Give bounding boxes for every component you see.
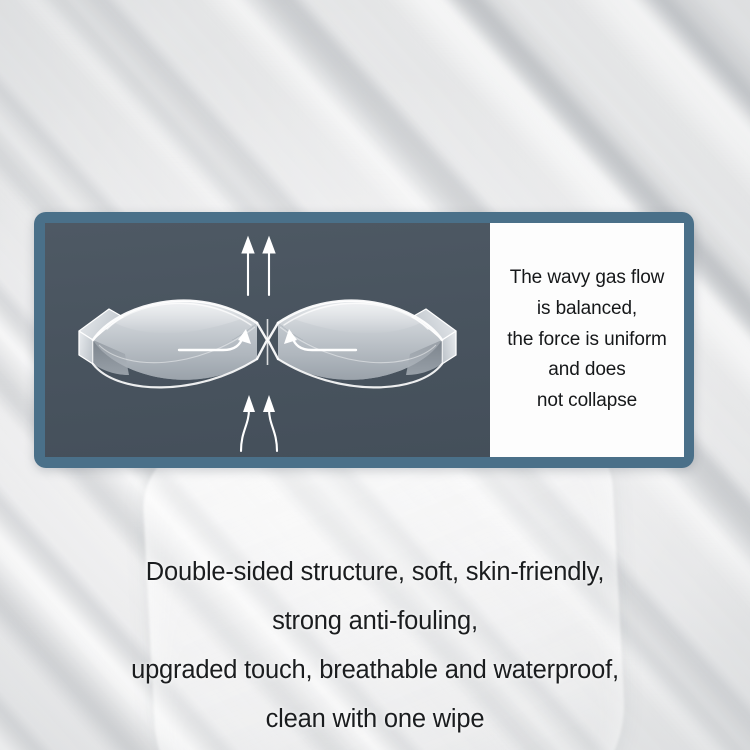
wavy-gas-flow-cushion-icon [45, 223, 490, 457]
product-caption: Double-sided structure, soft, skin-frien… [0, 548, 750, 744]
feature-text-line: the force is uniform [507, 325, 667, 356]
diagram-area [45, 223, 490, 457]
caption-line: clean with one wipe [0, 695, 750, 744]
feature-text-line: not collapse [537, 386, 637, 417]
feature-panel-inner: The wavy gas flow is balanced, the force… [45, 223, 684, 457]
airflow-arrow-bottom-group [241, 395, 277, 451]
caption-line: upgraded touch, breathable and waterproo… [0, 646, 750, 695]
caption-line: Double-sided structure, soft, skin-frien… [0, 548, 750, 597]
feature-text-box: The wavy gas flow is balanced, the force… [490, 223, 684, 457]
product-feature-infographic: The wavy gas flow is balanced, the force… [0, 0, 750, 750]
feature-text-line: is balanced, [537, 294, 637, 325]
feature-panel-frame: The wavy gas flow is balanced, the force… [34, 212, 694, 468]
airflow-arrow-up-group [242, 237, 275, 295]
caption-line: strong anti-fouling, [0, 597, 750, 646]
feature-text-line: and does [548, 355, 625, 386]
feature-text-line: The wavy gas flow [510, 263, 665, 294]
